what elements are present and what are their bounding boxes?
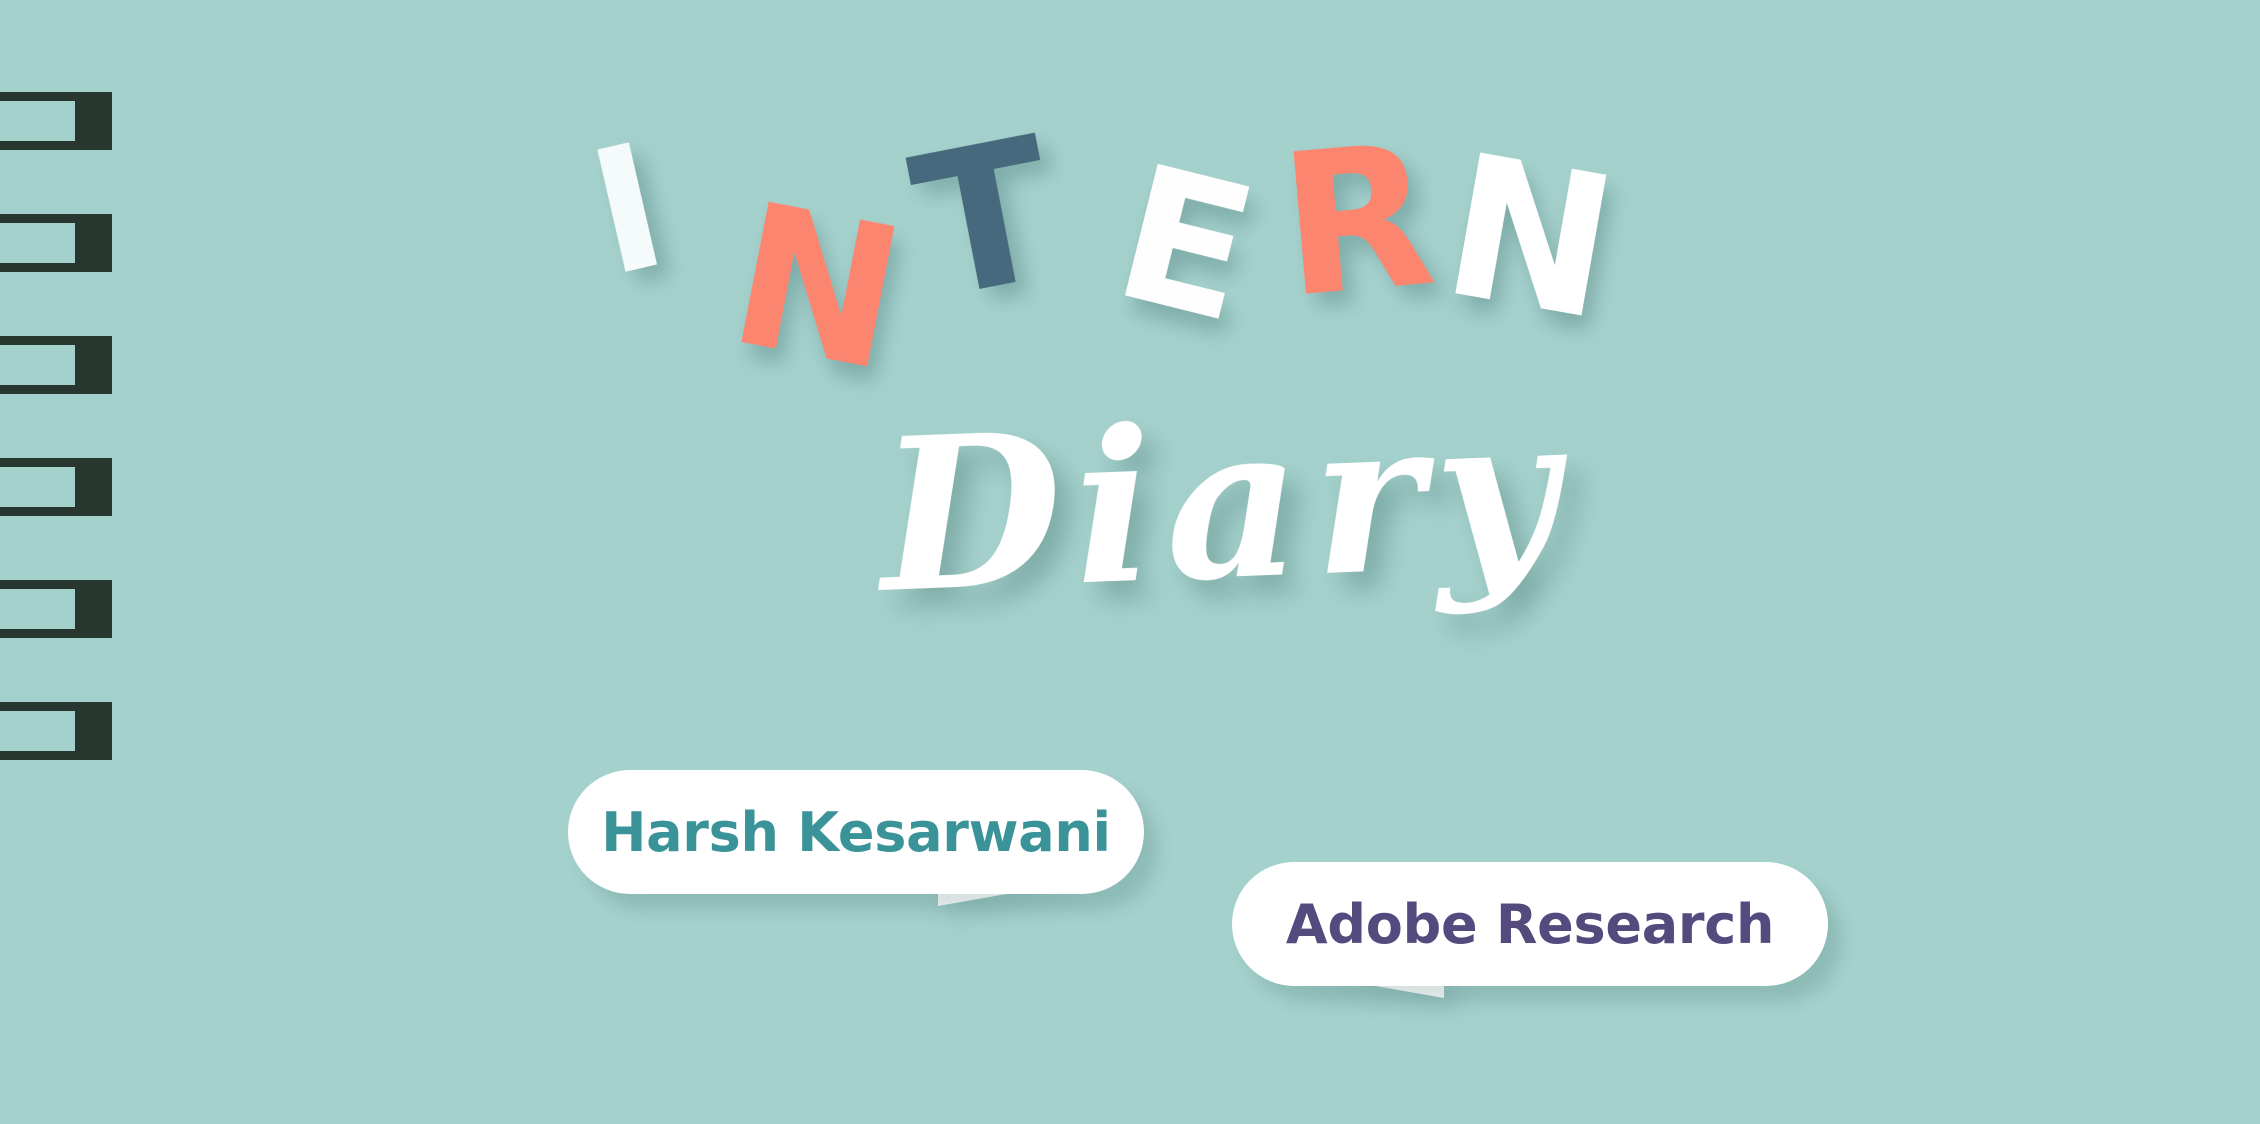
speech-bubble-org[interactable]: Adobe Research [1232, 862, 1828, 986]
speech-bubble-name[interactable]: Harsh Kesarwani [568, 770, 1144, 894]
title-diary: Diary [876, 388, 1504, 622]
spiral-ring-hole [0, 223, 75, 263]
bubble-tail-harsh [938, 880, 1086, 998]
spiral-ring-hole [0, 589, 75, 629]
spiral-ring-hole [0, 467, 75, 507]
spiral-ring [0, 458, 112, 516]
bubble-tail-adobe [1296, 972, 1444, 1090]
spiral-ring-hole [0, 101, 75, 141]
speech-bubble-org-label: Adobe Research [1286, 893, 1774, 956]
spiral-ring [0, 92, 112, 150]
poster-canvas: INTERN Diary Harsh Kesarwani Adobe Resea… [0, 0, 2260, 1124]
spiral-ring [0, 336, 112, 394]
spiral-ring [0, 214, 112, 272]
spiral-ring [0, 580, 112, 638]
spiral-ring-hole [0, 345, 75, 385]
spiral-ring [0, 702, 112, 760]
spiral-ring-hole [0, 711, 75, 751]
speech-bubble-name-label: Harsh Kesarwani [601, 801, 1111, 864]
